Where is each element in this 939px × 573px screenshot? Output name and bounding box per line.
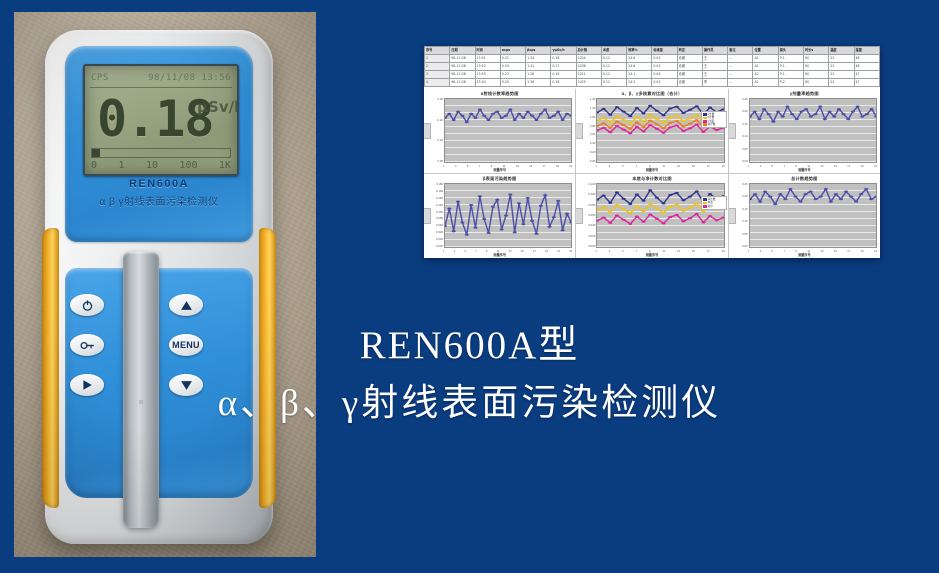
chart-data-point bbox=[695, 105, 699, 107]
chart-data-point bbox=[602, 108, 606, 110]
chart-data-point bbox=[849, 196, 853, 198]
chart-data-point bbox=[465, 234, 469, 236]
chart-data-point bbox=[750, 198, 752, 200]
chart-data-point bbox=[452, 119, 456, 121]
chart-y-tick: 0.040 bbox=[588, 224, 595, 227]
chart-data-point bbox=[649, 124, 653, 126]
chart-y-tick: 0.80 bbox=[590, 125, 595, 128]
chart-data-point bbox=[708, 193, 712, 195]
chart-data-point bbox=[495, 111, 499, 113]
spreadsheet-cell: 47 bbox=[854, 71, 879, 79]
spreadsheet-cell: 王 bbox=[702, 71, 727, 79]
spreadsheet-header-cell: 探头 bbox=[778, 47, 803, 55]
chart-y-axis: 0.250.200.150.100.050.00 bbox=[732, 183, 749, 248]
chart-data-point bbox=[513, 119, 517, 121]
chart-data-point bbox=[702, 221, 706, 223]
chart-data-point bbox=[635, 205, 639, 207]
product-photo: CPS 98/11/08 13:56 0.18 μSv/h 01101001K … bbox=[14, 12, 316, 557]
chart-series-svg bbox=[445, 99, 571, 162]
chart-data-point bbox=[798, 201, 802, 203]
chart-data-point bbox=[771, 121, 775, 123]
spreadsheet-header-cell: 操作员 bbox=[702, 47, 727, 55]
chart-data-point bbox=[615, 125, 619, 127]
chart-body: 0.300.200.100.00 bbox=[427, 98, 572, 163]
spreadsheet-cell: A2 bbox=[753, 79, 778, 87]
chart-data-point bbox=[655, 118, 659, 120]
spreadsheet-row: 298-11-0813:520.191.410.1710380.1224.80.… bbox=[425, 63, 880, 71]
chart-legend-swatch bbox=[703, 117, 707, 120]
chart-data-point bbox=[602, 117, 606, 119]
chart-data-point bbox=[569, 221, 571, 223]
spreadsheet-cell: — bbox=[728, 55, 753, 63]
spreadsheet-cell: 1038 bbox=[576, 63, 601, 71]
chart-data-point bbox=[500, 117, 504, 119]
chart-data-point bbox=[682, 220, 686, 222]
spreadsheet-header-cell: 时长s bbox=[803, 47, 828, 55]
chart-y-tick: 0.00 bbox=[742, 160, 747, 163]
chart-body: 0.250.200.150.100.050.00 bbox=[732, 98, 877, 163]
chart-y-tick: 0.00 bbox=[438, 160, 443, 163]
chart-data-point bbox=[859, 193, 863, 195]
chart-data-point bbox=[837, 108, 841, 110]
spreadsheet-cell: P-1 bbox=[778, 55, 803, 63]
chart-data-point bbox=[662, 212, 666, 214]
chart-data-point bbox=[609, 222, 613, 224]
chart-data-point bbox=[715, 129, 719, 131]
chart-data-point bbox=[460, 221, 464, 223]
chart-data-point bbox=[649, 213, 653, 215]
chart-data-point bbox=[615, 214, 619, 216]
chart-data-point bbox=[561, 229, 565, 231]
chart-data-point bbox=[655, 207, 659, 209]
chart-data-point bbox=[500, 228, 504, 230]
chart-data-point bbox=[818, 106, 822, 108]
spreadsheet-cell: 22 bbox=[829, 63, 854, 71]
product-title-line2: α、β、γ射线表面污染检测仪 bbox=[0, 372, 939, 436]
chart-data-point bbox=[757, 118, 761, 120]
chart-y-tick: 1.40 bbox=[590, 98, 595, 101]
chart-title: α射线计数率趋势图 bbox=[427, 91, 572, 98]
chart-data-point bbox=[478, 195, 482, 197]
chart-y-tick: 0.120 bbox=[436, 204, 443, 207]
chart-data-point bbox=[447, 113, 451, 115]
chart-data-point bbox=[834, 193, 838, 195]
spreadsheet-row: 198-11-0813:510.211.340.1810240.1224.60.… bbox=[425, 55, 880, 63]
spreadsheet-cell: 22 bbox=[829, 55, 854, 63]
chart-data-point bbox=[629, 122, 633, 124]
chart-data-point bbox=[602, 122, 606, 124]
chart-body: 0.250.200.150.100.050.00 bbox=[732, 183, 877, 248]
chart-y-axis: 0.1200.1000.0800.0600.0400.0200.000 bbox=[579, 183, 596, 248]
chart-plot-area bbox=[596, 183, 724, 248]
chart-legend: α计数β计数γ剂量总计数 bbox=[701, 111, 727, 129]
chart-data-point bbox=[855, 106, 859, 108]
chart-data-point bbox=[668, 116, 672, 118]
chart-data-point bbox=[675, 192, 679, 194]
chart-data-point bbox=[622, 198, 626, 200]
chart-data-point bbox=[864, 188, 868, 190]
chart-data-point bbox=[517, 113, 521, 115]
chart-title: 总计数趋势图 bbox=[732, 176, 877, 183]
chart-series-svg bbox=[445, 184, 571, 247]
chart-title: β表面污染趋势图 bbox=[427, 176, 572, 183]
chart-data-point bbox=[778, 193, 782, 195]
chart-data-point bbox=[662, 127, 666, 129]
chart-x-axis-title: 测量序号 bbox=[729, 253, 880, 258]
chart-data-point bbox=[668, 206, 672, 208]
chart-legend-swatch bbox=[703, 120, 707, 123]
chart-data-point bbox=[642, 112, 646, 114]
spreadsheet-header-cell: αcps bbox=[500, 47, 525, 55]
chart-data-point bbox=[827, 111, 831, 113]
chart-data-point bbox=[534, 233, 538, 235]
spreadsheet-header-cell: 备注 bbox=[728, 47, 753, 55]
chart-data-point bbox=[675, 203, 679, 205]
chart-data-point bbox=[675, 125, 679, 127]
spreadsheet-table: 序号日期时间αcpsβcpsγμSv/h总计数本底效率%标准差判定操作员备注位置… bbox=[424, 46, 880, 87]
chart-data-point bbox=[869, 198, 873, 200]
spreadsheet-header-cell: 温度 bbox=[829, 47, 854, 55]
chart-data-point bbox=[622, 119, 626, 121]
chart-y-tick: 0.080 bbox=[588, 204, 595, 207]
spreadsheet-cell: 0.04 bbox=[652, 71, 677, 79]
spreadsheet-cell: 合格 bbox=[677, 79, 702, 87]
chart-y-axis: 0.300.200.100.00 bbox=[427, 98, 444, 163]
spreadsheet-cell: 98-11-08 bbox=[450, 71, 475, 79]
chart-data-point bbox=[682, 210, 686, 212]
chart-data-point bbox=[655, 123, 659, 125]
chart-data-point bbox=[629, 203, 633, 205]
spreadsheet-cell: 3 bbox=[425, 71, 450, 79]
chart-y-tick: 0.20 bbox=[742, 110, 747, 113]
spreadsheet-cell: 0.03 bbox=[652, 55, 677, 63]
spreadsheet-cell: 24.1 bbox=[627, 71, 652, 79]
chart-data-point bbox=[776, 111, 780, 113]
chart-y-tick: 0.020 bbox=[436, 238, 443, 241]
chart-data-point bbox=[804, 108, 808, 110]
chart-data-point bbox=[649, 114, 653, 116]
spreadsheet-header-cell: 时间 bbox=[475, 47, 500, 55]
chart-panel: 本底与净计数对比图0.1200.1000.0800.0600.0400.0200… bbox=[576, 174, 727, 258]
chart-data-point bbox=[539, 113, 543, 115]
chart-y-tick: 0.100 bbox=[588, 193, 595, 196]
chart-y-tick: 1.20 bbox=[590, 107, 595, 110]
chart-data-point bbox=[504, 115, 508, 117]
chart-series-svg bbox=[597, 99, 723, 162]
spreadsheet-cell: 0.12 bbox=[601, 79, 626, 87]
chart-data-point bbox=[635, 216, 639, 218]
chart-data-point bbox=[642, 120, 646, 122]
chart-data-point bbox=[854, 201, 858, 203]
chart-data-point bbox=[635, 193, 639, 195]
spreadsheet-cell: 60 bbox=[803, 63, 828, 71]
chart-y-tick: 0.10 bbox=[438, 139, 443, 142]
chart-y-tick: 0.10 bbox=[742, 220, 747, 223]
spreadsheet-cell: P-1 bbox=[778, 71, 803, 79]
chart-data-point bbox=[649, 203, 653, 205]
chart-data-point bbox=[846, 118, 850, 120]
spreadsheet-cell: 13:52 bbox=[475, 63, 500, 71]
spreadsheet-cell: 1024 bbox=[576, 55, 601, 63]
spreadsheet-cell: A2 bbox=[753, 71, 778, 79]
chart-data-point bbox=[642, 221, 646, 223]
spreadsheet-cell: 60 bbox=[803, 79, 828, 87]
chart-data-point bbox=[513, 231, 517, 233]
chart-y-tick: 0.100 bbox=[436, 211, 443, 214]
chart-plot-area bbox=[444, 183, 572, 248]
chart-y-tick: 0.05 bbox=[742, 148, 747, 151]
chart-y-tick: 0.30 bbox=[438, 98, 443, 101]
chart-data-point bbox=[642, 200, 646, 202]
chart-data-point bbox=[469, 113, 473, 115]
chart-data-point bbox=[539, 205, 543, 207]
chart-data-point bbox=[695, 124, 699, 126]
chart-x-axis-title: 测量序号 bbox=[729, 168, 880, 173]
chart-data-point bbox=[662, 222, 666, 224]
spreadsheet-cell: 0.18 bbox=[551, 79, 576, 87]
chart-data-point bbox=[874, 116, 876, 118]
chart-legend-label: 总计 bbox=[708, 205, 713, 208]
chart-data-point bbox=[790, 113, 794, 115]
chart-data-point bbox=[491, 113, 495, 115]
chart-legend-swatch bbox=[703, 202, 707, 205]
chart-y-axis: 0.1800.1600.1400.1200.1000.0800.0600.040… bbox=[427, 183, 444, 248]
chart-data-point bbox=[822, 118, 826, 120]
spreadsheet-header-cell: 总计数 bbox=[576, 47, 601, 55]
chart-data-point bbox=[832, 116, 836, 118]
chart-y-tick: 0.25 bbox=[742, 98, 747, 101]
chart-y-tick: 0.060 bbox=[588, 214, 595, 217]
software-report-screenshot: 序号日期时间αcpsβcpsγμSv/h总计数本底效率%标准差判定操作员备注位置… bbox=[424, 46, 880, 258]
spreadsheet-cell: 13:54 bbox=[475, 79, 500, 87]
chart-data-point bbox=[753, 193, 757, 195]
spreadsheet-cell: P-2 bbox=[778, 79, 803, 87]
chart-data-point bbox=[763, 191, 767, 193]
chart-data-point bbox=[780, 116, 784, 118]
chart-data-point bbox=[818, 196, 822, 198]
spreadsheet-cell: 48 bbox=[854, 63, 879, 71]
product-title-line1: REN600A型 bbox=[0, 320, 939, 372]
spreadsheet-cell: 王 bbox=[702, 55, 727, 63]
chart-data-point bbox=[750, 116, 752, 118]
spreadsheet-cell: 合格 bbox=[677, 71, 702, 79]
chart-data-point bbox=[758, 201, 762, 203]
chart-x-axis-title: 测量序号 bbox=[576, 253, 727, 258]
chart-data-point bbox=[794, 118, 798, 120]
spreadsheet-cell: 0.18 bbox=[551, 55, 576, 63]
chart-data-point bbox=[688, 117, 692, 119]
chart-data-point bbox=[688, 123, 692, 125]
chart-data-point bbox=[635, 107, 639, 109]
chart-body: 0.1800.1600.1400.1200.1000.0800.0600.040… bbox=[427, 183, 572, 248]
chart-data-point bbox=[860, 116, 864, 118]
spreadsheet-cell: 0.12 bbox=[601, 71, 626, 79]
chart-data-point bbox=[788, 188, 792, 190]
chart-data-point bbox=[655, 197, 659, 199]
chart-data-point bbox=[649, 120, 653, 122]
chart-x-axis-title: 测量序号 bbox=[576, 168, 727, 173]
chart-data-point bbox=[635, 116, 639, 118]
chart-y-tick: 0.15 bbox=[742, 123, 747, 126]
spreadsheet-cell: 合格 bbox=[677, 63, 702, 71]
chart-y-tick: 1.00 bbox=[590, 116, 595, 119]
chart-data-point bbox=[813, 198, 817, 200]
chart-y-tick: 0.000 bbox=[436, 245, 443, 248]
chart-data-point bbox=[688, 196, 692, 198]
chart-x-axis-title: 测量序号 bbox=[424, 253, 575, 258]
chart-data-point bbox=[668, 194, 672, 196]
chart-data-point bbox=[783, 198, 787, 200]
chart-y-tick: 0.60 bbox=[590, 133, 595, 136]
chart-data-point bbox=[622, 219, 626, 221]
chart-data-point bbox=[556, 111, 560, 113]
chart-plot-area bbox=[596, 98, 724, 163]
chart-data-point bbox=[456, 200, 460, 202]
chart-legend-swatch bbox=[703, 198, 707, 201]
chart-title: α、β、γ多核素对比图（合计） bbox=[579, 91, 724, 98]
chart-data-point bbox=[530, 115, 534, 117]
spreadsheet-cell: 0.03 bbox=[652, 79, 677, 87]
chart-data-point bbox=[865, 113, 869, 115]
chart-data-point bbox=[668, 126, 672, 128]
spreadsheet-cell: 47 bbox=[854, 79, 879, 87]
chart-y-tick: 0.080 bbox=[436, 217, 443, 220]
spreadsheet-cell: 24.5 bbox=[627, 79, 652, 87]
chart-legend-label: 总计数 bbox=[708, 123, 716, 126]
spreadsheet-cell: A1 bbox=[753, 55, 778, 63]
chart-y-tick: 0.00 bbox=[590, 160, 595, 163]
spreadsheet-cell: 0.17 bbox=[551, 63, 576, 71]
chart-y-tick: 0.10 bbox=[742, 135, 747, 138]
chart-data-point bbox=[695, 190, 699, 192]
spreadsheet-cell: P-1 bbox=[778, 63, 803, 71]
spreadsheet-cell: — bbox=[728, 63, 753, 71]
chart-panel: α射线计数率趋势图0.300.200.100.00135791113151719… bbox=[424, 89, 575, 173]
chart-data-point bbox=[543, 194, 547, 196]
chart-data-point bbox=[682, 130, 686, 132]
chart-data-point bbox=[649, 105, 653, 107]
spreadsheet-cell: 0.03 bbox=[652, 63, 677, 71]
chart-data-point bbox=[688, 207, 692, 209]
spreadsheet-header-cell: 判定 bbox=[677, 47, 702, 55]
chart-data-point bbox=[649, 189, 653, 191]
chart-data-point bbox=[793, 196, 797, 198]
chart-data-point bbox=[465, 121, 469, 123]
chart-data-point bbox=[548, 226, 552, 228]
spreadsheet-header-cell: 湿度 bbox=[854, 47, 879, 55]
spreadsheet-header-cell: 标准差 bbox=[652, 47, 677, 55]
chart-data-point bbox=[561, 119, 565, 121]
spreadsheet-cell: 24.8 bbox=[627, 63, 652, 71]
spreadsheet-header-cell: 序号 bbox=[425, 47, 450, 55]
spreadsheet-cell: 98-11-08 bbox=[450, 79, 475, 87]
chart-data-point bbox=[495, 199, 499, 201]
spreadsheet-cell: 1 bbox=[425, 55, 450, 63]
spreadsheet-cell: — bbox=[728, 71, 753, 79]
spreadsheet-cell: A1 bbox=[753, 63, 778, 71]
chart-data-point bbox=[682, 112, 686, 114]
chart-data-point bbox=[469, 204, 473, 206]
chart-panel: α、β、γ多核素对比图（合计）1.401.201.000.800.600.400… bbox=[576, 89, 727, 173]
photo-vignette bbox=[14, 12, 316, 557]
spreadsheet-cell: 1.34 bbox=[526, 55, 551, 63]
chart-data-point bbox=[556, 200, 560, 202]
chart-data-point bbox=[828, 201, 832, 203]
spreadsheet-cell: 13:51 bbox=[475, 55, 500, 63]
chart-data-point bbox=[526, 111, 530, 113]
chart-data-point bbox=[622, 124, 626, 126]
chart-data-point bbox=[785, 106, 789, 108]
chart-data-point bbox=[508, 108, 512, 110]
chart-data-point bbox=[526, 197, 530, 199]
spreadsheet-cell: 1.28 bbox=[526, 71, 551, 79]
spreadsheet-cell: 王 bbox=[702, 63, 727, 71]
chart-data-point bbox=[615, 115, 619, 117]
chart-data-point bbox=[823, 188, 827, 190]
chart-legend: 净计数本底总计 bbox=[701, 196, 727, 210]
chart-body: 1.401.201.000.800.600.400.200.00 bbox=[579, 98, 724, 163]
spreadsheet-cell: 2 bbox=[425, 63, 450, 71]
chart-data-point bbox=[602, 217, 606, 219]
chart-x-axis-title: 测量序号 bbox=[424, 168, 575, 173]
spreadsheet-cell: 0.20 bbox=[500, 79, 525, 87]
chart-data-point bbox=[635, 126, 639, 128]
chart-data-point bbox=[813, 113, 817, 115]
chart-data-point bbox=[762, 108, 766, 110]
spreadsheet-cell: 1029 bbox=[576, 79, 601, 87]
chart-y-tick: 0.120 bbox=[588, 183, 595, 186]
chart-data-point bbox=[517, 202, 521, 204]
chart-data-point bbox=[622, 111, 626, 113]
chart-y-axis: 0.250.200.150.100.050.00 bbox=[732, 98, 749, 163]
chart-legend-item: 总计 bbox=[703, 205, 725, 208]
chart-data-point bbox=[702, 131, 706, 133]
chart-data-point bbox=[695, 119, 699, 121]
chart-series-line bbox=[445, 195, 571, 235]
chart-y-tick: 0.00 bbox=[742, 245, 747, 248]
spreadsheet-cell: 23 bbox=[829, 79, 854, 87]
chart-data-point bbox=[478, 108, 482, 110]
spreadsheet-header-cell: 日期 bbox=[450, 47, 475, 55]
chart-y-tick: 0.20 bbox=[742, 195, 747, 198]
chart-y-tick: 0.020 bbox=[588, 235, 595, 238]
chart-title: 本底与净计数对比图 bbox=[579, 176, 724, 183]
chart-data-point bbox=[609, 114, 613, 116]
chart-data-point bbox=[487, 232, 491, 234]
chart-data-point bbox=[609, 202, 613, 204]
chart-plot-area bbox=[749, 183, 877, 248]
chart-data-point bbox=[715, 219, 719, 221]
chart-data-point bbox=[565, 213, 569, 215]
chart-data-point bbox=[675, 120, 679, 122]
chart-title: γ剂量率趋势图 bbox=[732, 91, 877, 98]
chart-data-point bbox=[482, 218, 486, 220]
chart-data-point bbox=[752, 111, 756, 113]
chart-plot-area bbox=[749, 98, 877, 163]
spreadsheet-cell: 98-11-08 bbox=[450, 63, 475, 71]
chart-data-point bbox=[534, 119, 538, 121]
chart-data-point bbox=[473, 227, 477, 229]
chart-data-point bbox=[552, 115, 556, 117]
chart-data-point bbox=[642, 210, 646, 212]
chart-series-svg bbox=[750, 184, 876, 247]
chart-legend-item: 总计数 bbox=[703, 123, 725, 126]
chart-data-point bbox=[851, 111, 855, 113]
chart-data-point bbox=[543, 108, 547, 110]
spreadsheet-cell: 0.19 bbox=[500, 63, 525, 71]
spreadsheet-row: 498-11-0813:540.201.360.1810290.1224.50.… bbox=[425, 79, 880, 87]
chart-data-point bbox=[602, 195, 606, 197]
